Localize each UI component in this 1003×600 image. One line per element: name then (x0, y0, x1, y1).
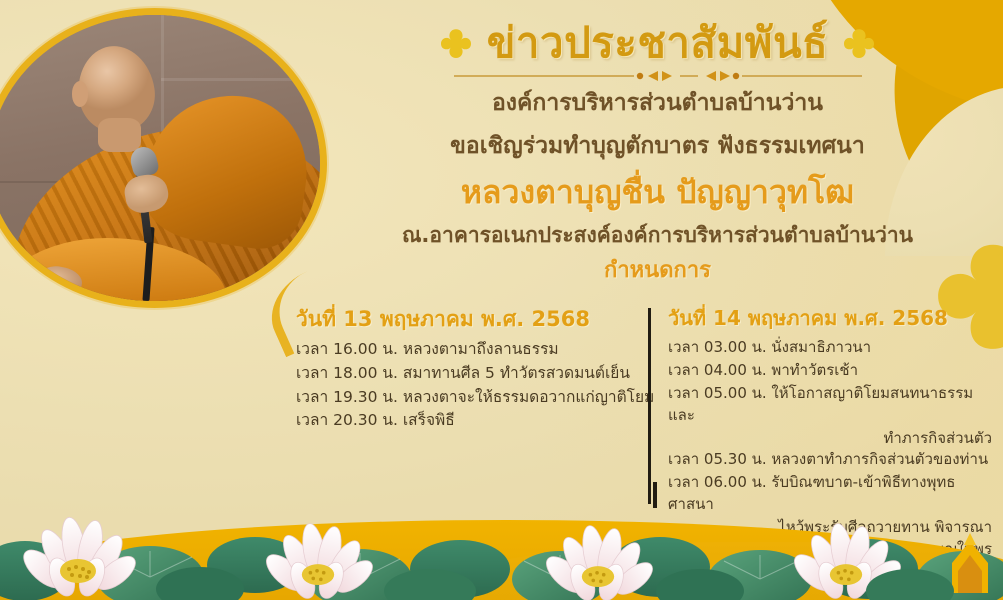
photo-content (0, 15, 320, 301)
announcement-poster: ข่าวประชาสัมพันธ์ องค์การบริหารส่วนตำบลบ… (0, 0, 1003, 600)
monk-ear (72, 81, 89, 107)
list-item: เวลา 18.00 น. สมาทานศีล 5 ทำวัตรสวดมนต์เ… (296, 362, 628, 385)
lotus-decoration-band (0, 485, 1003, 600)
list-item: เวลา 04.00 น. พาทำวัตรเช้า (668, 360, 996, 382)
list-item: เวลา 16.00 น. หลวงตามาถึงลานธรรม (296, 338, 628, 361)
day-one-list: เวลา 16.00 น. หลวงตามาถึงลานธรรม เวลา 18… (296, 338, 628, 432)
page-title: ข่าวประชาสัมพันธ์ (487, 20, 829, 65)
poster-header: ข่าวประชาสัมพันธ์ องค์การบริหารส่วนตำบลบ… (330, 20, 985, 285)
list-item: เวลา 03.00 น. นั่งสมาธิภาวนา (668, 337, 996, 359)
monk-name: หลวงตาบุญชื่น ปัญญาวุทโฒ (330, 172, 985, 212)
lotus-illustration (0, 485, 1003, 600)
schedule-column-day-two: วันที่ 14 พฤษภาคม พ.ศ. 2568 เวลา 03.00 น… (646, 306, 996, 506)
schedule-section: วันที่ 13 พฤษภาคม พ.ศ. 2568 เวลา 16.00 น… (296, 306, 996, 506)
title-row: ข่าวประชาสัมพันธ์ (330, 20, 985, 65)
list-item: เวลา 20.30 น. เสร็จพิธี (296, 409, 628, 432)
list-item: เวลา 05.00 น. ให้โอกาสญาติโยมสนทนาธรรมแล… (668, 383, 996, 427)
ornamental-divider (448, 69, 868, 83)
day-one-heading: วันที่ 13 พฤษภาคม พ.ศ. 2568 (296, 306, 628, 332)
venue-text: ณ.อาคารอเนกประสงค์องค์การบริหารส่วนตำบลบ… (330, 222, 985, 249)
organization-name: องค์การบริหารส่วนตำบลบ้านว่าน (330, 89, 985, 119)
quatrefoil-flower-icon-left (441, 28, 471, 58)
thai-pagoda-ornament (952, 533, 988, 593)
monk-portrait-photo (0, 8, 327, 308)
list-item: เวลา 19.30 น. หลวงตาจะให้ธรรมดอวากแก่ญาต… (296, 386, 628, 409)
monk-neck (98, 118, 141, 152)
day-two-heading: วันที่ 14 พฤษภาคม พ.ศ. 2568 (668, 306, 996, 331)
quatrefoil-flower-icon-right (844, 28, 874, 58)
list-item-continuation: ทำภารกิจส่วนตัว (668, 428, 996, 450)
invitation-text: ขอเชิญร่วมทำบุญตักบาตร ฟังธรรมเทศนา (330, 132, 985, 162)
agenda-label: กำหนดการ (330, 257, 985, 285)
schedule-column-day-one: วันที่ 13 พฤษภาคม พ.ศ. 2568 เวลา 16.00 น… (296, 306, 646, 506)
list-item: เวลา 05.30 น. หลวงตาทำภารกิจส่วนตัวของท่… (668, 449, 996, 471)
